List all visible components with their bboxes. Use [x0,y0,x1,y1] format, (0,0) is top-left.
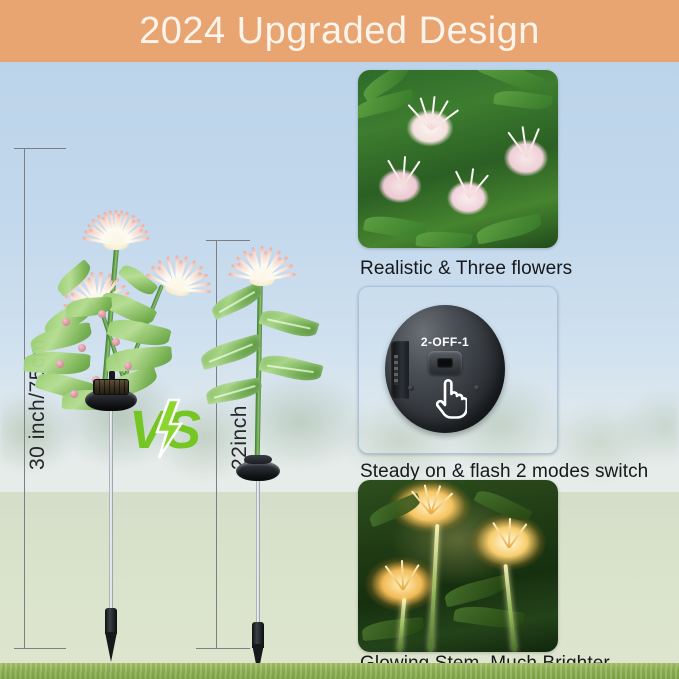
photo-glowing-stem [358,480,558,652]
flower-right [230,236,294,286]
housing-side-connector [391,341,409,399]
housing-screw-right [474,385,480,391]
solar-panel-head-right [236,455,280,481]
solar-puck-top [244,455,272,464]
switch-mode-label: 2-OFF-1 [385,335,505,349]
vs-badge: VS [129,398,211,460]
photo-mode-switch: 2-OFF-1 [358,286,558,454]
housing-screw-left [408,385,414,391]
solar-cap-nub [109,371,115,379]
switch-window [437,358,453,368]
stake-rod-right [256,478,260,628]
product-infographic: 2024 Upgraded Design 30 inch/75cm 22inch [0,0,679,679]
mode-switch-button[interactable] [428,351,462,375]
product-left-solar-light [0,60,220,660]
bloom [230,236,294,286]
page-title: 2024 Upgraded Design [139,12,540,50]
bloom [78,188,154,250]
leaf-right-5 [205,377,263,404]
leaf-right-4 [259,351,324,385]
solar-lamp-housing: 2-OFF-1 [385,305,505,433]
leaf-right-3 [198,334,263,370]
leaf-right-2 [258,306,319,342]
solar-puck [236,461,280,481]
header-banner: 2024 Upgraded Design [0,0,679,62]
flower-left-top [78,188,154,250]
grass-strip [0,663,679,679]
solar-cell [93,379,128,395]
photo-realistic-flowers [358,70,558,248]
caption-realistic-flowers: Realistic & Three flowers [360,258,572,280]
product-right-competitor-light [196,230,336,490]
pointing-hand-icon [433,377,467,419]
